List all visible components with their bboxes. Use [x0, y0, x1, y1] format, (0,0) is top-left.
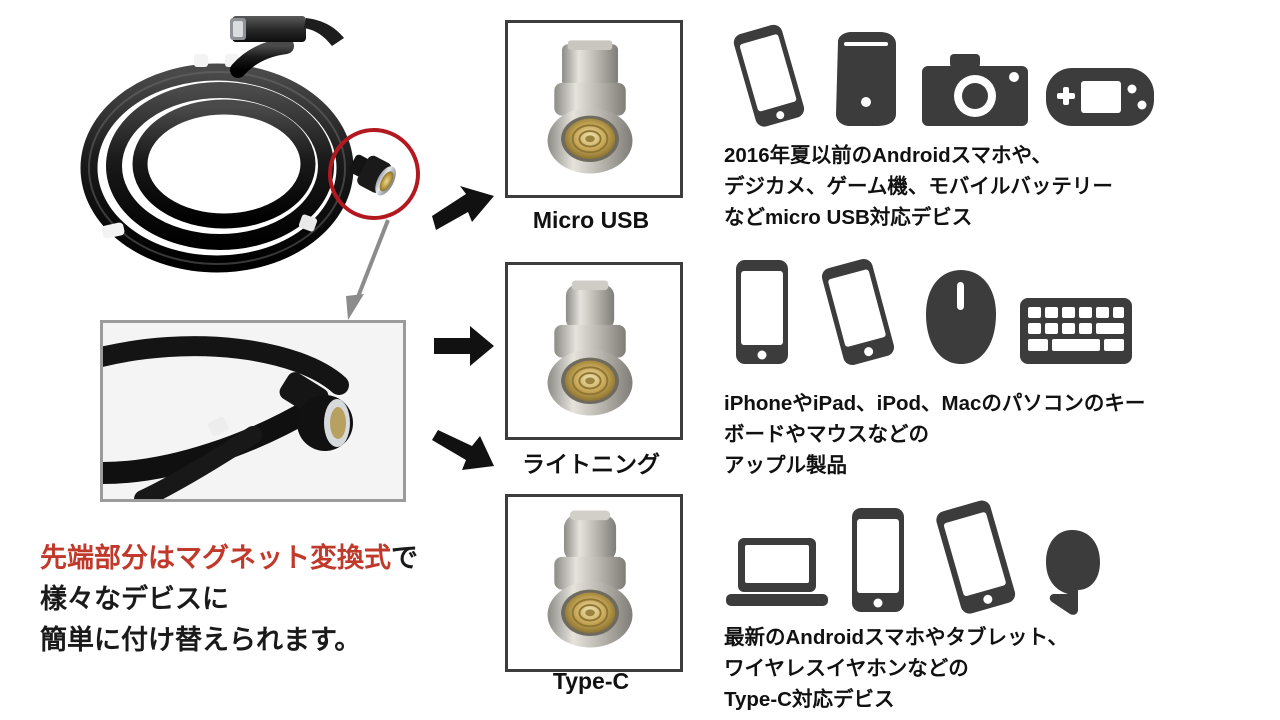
diagram-canvas: 先端部分はマグネット変換式で 樣々なデビスに 簡単に付け替えられます。	[0, 0, 1280, 720]
wireless-earphone-icon	[1038, 524, 1126, 616]
usb-a-plug	[228, 12, 348, 58]
product-photo-inset	[100, 320, 406, 502]
description-lightning: iPhoneやiPad、iPod、Macのパソコンのキー ボードやマウスなどの …	[724, 388, 1254, 481]
description-type-c: 最新のAndroidスマホやタブレット、 ワイヤレスイヤホンなどの Type-C…	[724, 622, 1254, 715]
smartphone-tilted-icon	[726, 22, 810, 130]
black-arrow-icon-3	[432, 430, 496, 482]
device-icons-type-c	[726, 500, 1126, 616]
lightning-magnetic-tip-image	[508, 265, 674, 431]
desc-line: Type-C対応デビス	[724, 684, 1254, 715]
laptop-icon	[726, 532, 828, 616]
product-photo-main	[42, 8, 442, 278]
desc-line: ワイヤレスイヤホンなどの	[724, 653, 1254, 684]
connector-label-type-c: Type-C	[501, 668, 681, 695]
black-arrow-icon-1	[432, 182, 496, 234]
device-icons-micro-usb	[726, 22, 1156, 130]
description-micro-usb: 2016年夏以前のAndroidスマホや、 デジカメ、ゲーム機、モバイルバッテリ…	[724, 140, 1254, 233]
black-arrow-icon-2	[432, 320, 496, 372]
caption-line3: 簡単に付け替えられます。	[40, 620, 520, 661]
cable-tip-closeup-illustration	[103, 323, 403, 499]
device-icons-lightning	[726, 256, 1134, 368]
desc-line: アップル製品	[724, 450, 1254, 481]
smartphone-icon	[842, 504, 914, 616]
desc-line: 2016年夏以前のAndroidスマホや、	[724, 140, 1254, 171]
zoom-pointer-arrow-icon	[342, 216, 402, 326]
desc-line: デジカメ、ゲーム機、モバイルバッテリー	[724, 171, 1254, 202]
connector-box-lightning	[505, 262, 683, 440]
desc-line: などmicro USB対応デビス	[724, 202, 1254, 233]
caption-line2: 樣々なデビスに	[40, 579, 520, 620]
desc-line: 最新のAndroidスマホやタブレット、	[724, 622, 1254, 653]
desc-line: iPhoneやiPad、iPod、Macのパソコンのキー	[724, 388, 1254, 419]
caption-text: 先端部分はマグネット変換式で 樣々なデビスに 簡単に付け替えられます。	[40, 538, 520, 661]
keyboard-icon	[1018, 294, 1134, 368]
tablet-tilted-icon	[928, 500, 1024, 616]
connector-box-micro-usb	[505, 20, 683, 198]
handheld-game-console-icon	[1044, 64, 1156, 130]
highlight-circle-icon	[328, 128, 420, 220]
desc-line: ボードやマウスなどの	[724, 419, 1254, 450]
connector-label-lightning: ライトニング	[501, 445, 681, 479]
mouse-icon	[918, 268, 1004, 368]
micro-usb-magnetic-tip-image	[508, 23, 674, 189]
camera-icon	[920, 50, 1030, 130]
connector-label-micro-usb: Micro USB	[501, 207, 681, 234]
mobile-battery-icon	[824, 30, 906, 130]
type-c-magnetic-tip-image	[508, 497, 674, 663]
caption-line1-red: 先端部分はマグネット変換式	[40, 543, 391, 573]
caption-line1-black: で	[391, 543, 418, 573]
connector-box-type-c	[505, 494, 683, 672]
smartphone-tilted-icon	[812, 256, 904, 368]
smartphone-icon	[726, 256, 798, 368]
